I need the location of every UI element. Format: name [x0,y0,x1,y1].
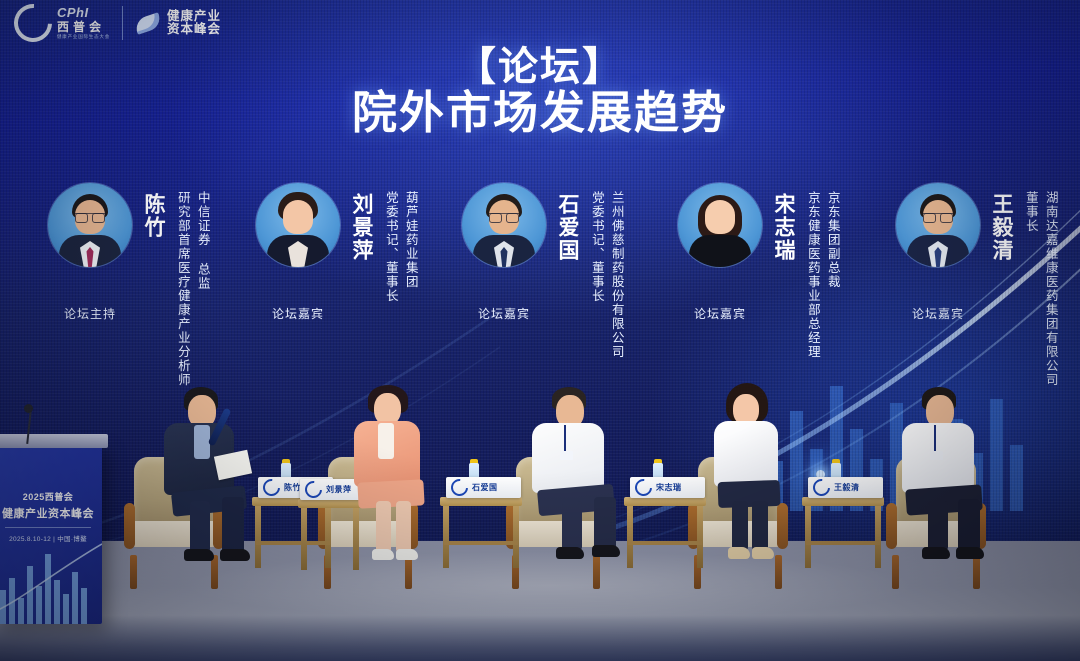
speaker-name-chen-zhu: 陈竹 [138,193,168,239]
logo-divider [122,6,123,40]
speaker-affiliation-wang-yiqing: 湖南达嘉维康医药集团有限公司 董事长 [1019,191,1059,387]
speaker-name-shi-aiguo: 石爱国 [552,193,582,262]
nameplate-shi-aiguo: 石爱国 [446,477,521,498]
side-table: 石爱国 [440,497,522,569]
header-logos: CPhI 西普会 健康产业国际生态大会 健康产业 资本峰会 [14,4,221,42]
portrait-chen-zhu [48,183,132,267]
affiliation-line-2: 董事长 [1022,191,1039,387]
portrait-liu-jingping [256,183,340,267]
speaker-role-wang-yiqing: 论坛嘉宾 [896,305,980,322]
affiliation-line-1: 湖南达嘉维康医药集团有限公司 [1042,191,1059,387]
affiliation-line-1: 中信证券 总监 [194,191,211,387]
speaker-name-song-zhirui: 宋志瑞 [768,193,798,262]
forum-title: 【论坛】 院外市场发展趋势 [0,45,1080,138]
affiliation-line-2: 京东健康医药事业部总经理 [804,191,821,359]
conference-stage-photo: CPhI 西普会 健康产业国际生态大会 健康产业 资本峰会 【论坛】 院外市场发… [0,0,1080,661]
affiliation-line-2: 研究部首席医疗健康产业分析师 [174,191,191,387]
side-table: 王毅清 [802,497,884,569]
podium-mic-icon [24,404,33,413]
nameplate-label: 王毅清 [834,482,860,493]
affiliation-line-1: 京东集团副总裁 [824,191,841,359]
cphi-ring-icon [302,478,326,502]
speaker-role-shi-aiguo: 论坛嘉宾 [462,305,546,322]
summit-logo: 健康产业 资本峰会 [135,10,221,36]
nameplate-song-zhirui: 宋志瑞 [630,477,705,498]
speaker-affiliation-song-zhirui: 京东集团副总裁 京东健康医药事业部总经理 [801,191,841,359]
cphi-logo-sub: 健康产业国际生态大会 [57,35,110,40]
speaker-affiliation-shi-aiguo: 兰州佛慈制药股份有限公司 党委书记、董事长 [585,191,625,359]
portrait-wang-yiqing [896,183,980,267]
cphi-logo-en: CPhI [57,6,110,19]
panelist-liu-jingping [342,389,452,569]
leaf-icon [133,12,162,34]
panelist-shi-aiguo [520,389,640,569]
cphi-logo: CPhI 西普会 健康产业国际生态大会 [14,4,110,42]
panelist-wang-yiqing [890,389,1010,569]
affiliation-line-1: 兰州佛慈制药股份有限公司 [608,191,625,359]
podium-top-surface [0,434,108,448]
lectern-podium: 2025西普会 健康产业资本峰会 2025.8.10-12 | 中国·博鳌 [0,444,102,624]
speaker-role-liu-jingping: 论坛嘉宾 [256,305,340,322]
podium-line1: 2025西普会 [0,490,102,503]
podium-line2: 健康产业资本峰会 [0,505,102,521]
nameplate-label: 陈竹 [284,482,301,493]
nameplate-wang-yiqing: 王毅清 [808,477,883,498]
cphi-ring-icon [810,476,834,500]
affiliation-line-1: 葫芦娃药业集团 [402,191,419,303]
speaker-name-wang-yiqing: 王毅清 [986,193,1016,262]
portrait-shi-aiguo [462,183,546,267]
speaker-name-liu-jingping: 刘景萍 [346,193,376,262]
affiliation-line-2: 党委书记、董事长 [382,191,399,303]
speaker-role-song-zhirui: 论坛嘉宾 [678,305,762,322]
nameplate-label: 石爱国 [472,482,498,493]
speaker-affiliation-chen-zhu: 中信证券 总监 研究部首席医疗健康产业分析师 [171,191,211,387]
forum-title-line2: 院外市场发展趋势 [0,88,1080,138]
podium-bar-graphic [0,532,102,624]
forum-title-line1: 【论坛】 [0,45,1080,90]
portrait-song-zhirui [678,183,762,267]
panelist-moderator [150,389,270,569]
summit-logo-line2: 资本峰会 [167,23,221,36]
panelist-song-zhirui [700,389,810,569]
nameplate-label: 宋志瑞 [656,482,682,493]
cphi-logo-cn: 西普会 [57,21,110,33]
speaker-role-chen-zhu: 论坛主持 [48,305,132,322]
affiliation-line-2: 党委书记、董事长 [588,191,605,359]
podium-divider [5,527,91,528]
speaker-affiliation-liu-jingping: 葫芦娃药业集团 党委书记、董事长 [379,191,419,303]
